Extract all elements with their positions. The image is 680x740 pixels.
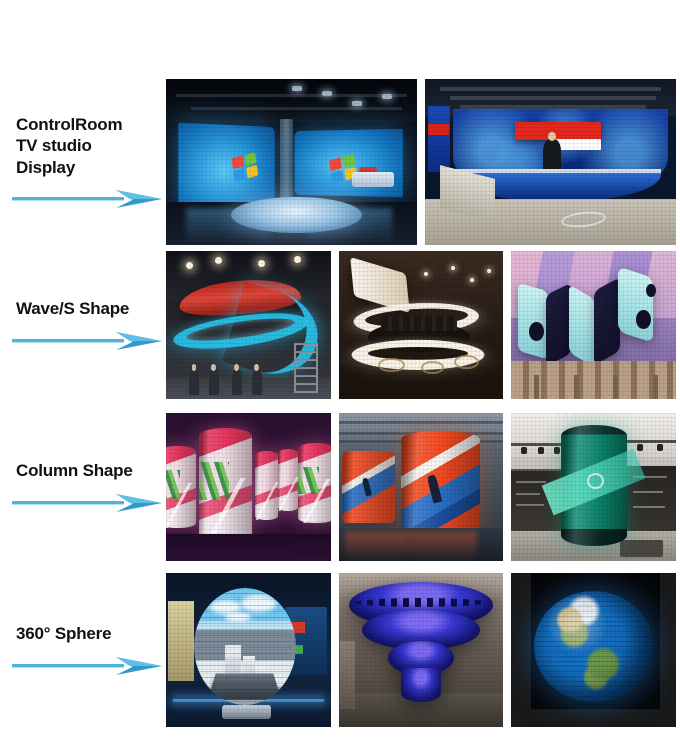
tile-column-green-retail[interactable] [510,412,677,562]
tiles-wave-s-shape [165,250,680,400]
row-column-shape: Column Shape [0,412,680,562]
tile-breaking-news-studio[interactable] [424,78,677,246]
row-label-wave-s-shape: Wave/S Shape [0,250,165,400]
image-wave-red-cyan-ribbon [166,251,331,399]
tile-column-orange-blue-curved[interactable] [338,412,505,562]
image-sphere-tiered-blue-chandelier [339,573,504,727]
row-label-column-shape: Column Shape [0,412,165,562]
tile-sphere-tiered-blue-chandelier[interactable] [338,572,505,728]
tile-sphere-city-sky[interactable] [165,572,332,728]
image-column-orange-blue-curved [339,413,504,561]
right-arrow-icon [12,655,162,677]
row-sphere-360: 360° Sphere [0,572,680,728]
row-control-room: ControlRoom TV studio Display [0,78,680,246]
tiles-column-shape [165,412,680,562]
row-label-text: 360° Sphere [16,623,111,644]
tile-w-shape-ceiling-led[interactable] [510,250,677,400]
image-tv-studio-curved-wall [166,79,417,245]
tiles-sphere-360 [165,572,680,728]
led-display-shapes-poster: ControlRoom TV studio Display [0,0,680,740]
image-breaking-news-studio [425,79,676,245]
tile-column-pink-red-cylinders[interactable] [165,412,332,562]
tile-tv-studio-curved-wall[interactable] [165,78,418,246]
row-label-sphere-360: 360° Sphere [0,572,165,728]
image-sphere-city-sky [166,573,331,727]
image-sphere-earth-globe [511,573,676,727]
tile-sphere-earth-globe[interactable] [510,572,677,728]
image-column-pink-red-cylinders [166,413,331,561]
right-arrow-icon [12,330,162,352]
tiles-control-room [165,78,680,246]
right-arrow-icon [12,188,162,210]
row-label-text: ControlRoom TV studio Display [16,114,122,178]
image-column-green-retail [511,413,676,561]
tile-wave-red-cyan-ribbon[interactable] [165,250,332,400]
right-arrow-icon [12,492,162,514]
row-label-text: Wave/S Shape [16,298,129,319]
image-spiral-white-led-ribbon [339,251,504,399]
row-label-text: Column Shape [16,460,133,481]
row-label-control-room: ControlRoom TV studio Display [0,78,165,246]
tile-spiral-white-led-ribbon[interactable] [338,250,505,400]
row-wave-s-shape: Wave/S Shape [0,250,680,400]
image-w-shape-ceiling-led [511,251,676,399]
